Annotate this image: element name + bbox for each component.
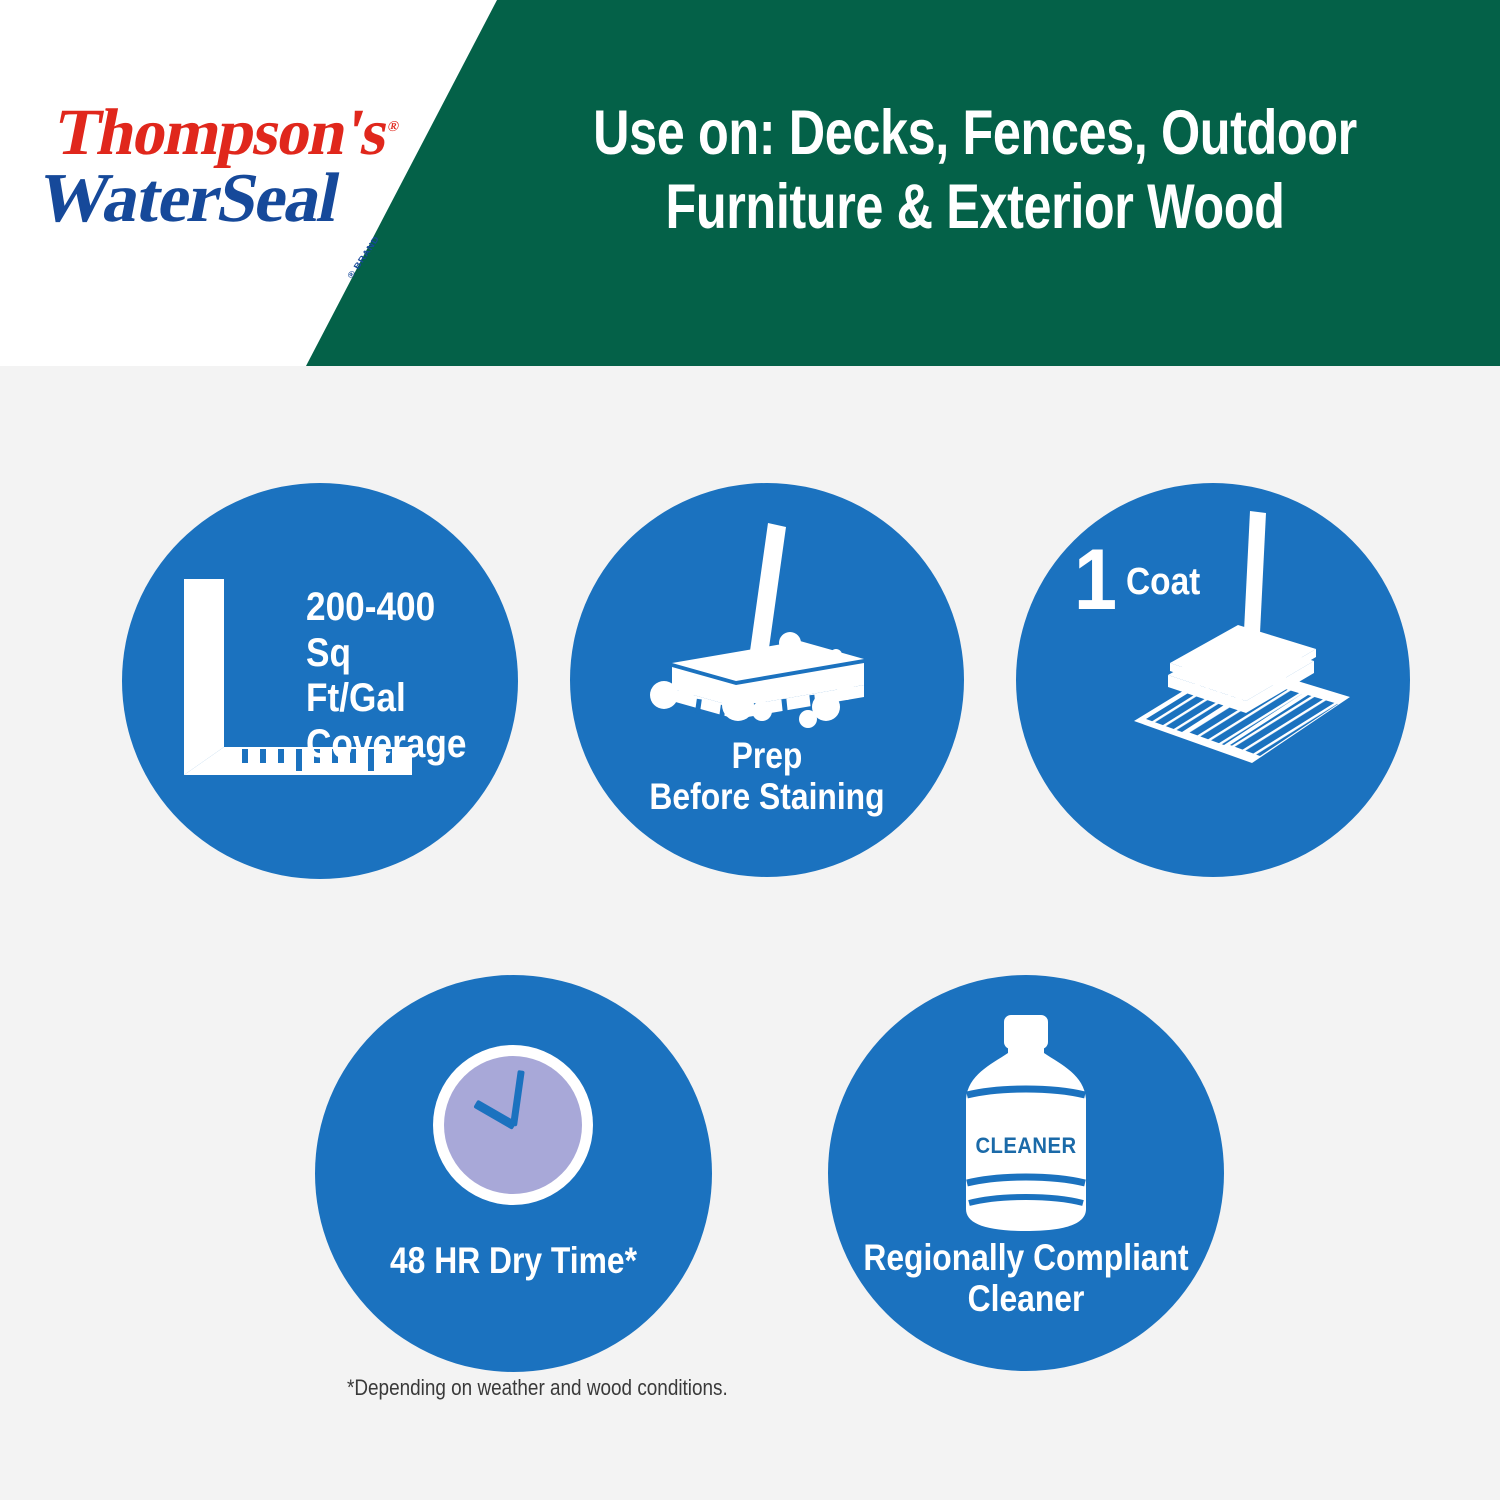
infographic-page: Thompson's® WaterSeal ® BRAND Use on: De… xyxy=(0,0,1500,1500)
coat-number: 1 xyxy=(1074,543,1117,619)
feature-circle-dry-time: 48 HR Dry Time* xyxy=(315,975,712,1372)
feature-circle-coverage: 200-400 Sq Ft/Gal Coverage xyxy=(122,483,518,879)
feature-circle-prep: Prep Before Staining xyxy=(570,483,964,877)
header-banner: Thompson's® WaterSeal ® BRAND Use on: De… xyxy=(0,0,1500,366)
bottle-shape xyxy=(950,1013,1102,1233)
coverage-content: 200-400 Sq Ft/Gal Coverage xyxy=(180,579,466,787)
logo-registered-icon: ® xyxy=(386,119,400,135)
brand-logo: Thompson's® WaterSeal ® BRAND xyxy=(31,100,404,245)
feature-circle-coat: 1 Coat xyxy=(1016,483,1410,877)
logo-waterseal-text: WaterSeal xyxy=(33,164,392,234)
logo-thompsons-text: Thompson's® xyxy=(50,100,404,166)
dry-time-label: 48 HR Dry Time* xyxy=(343,1240,684,1281)
cleaner-bottle-icon: CLEANER xyxy=(950,1013,1102,1233)
clock-icon xyxy=(433,1045,593,1205)
cleaner-label: Regionally Compliant Cleaner xyxy=(856,1237,1197,1320)
coat-count-text: 1 Coat xyxy=(1074,543,1210,619)
prep-label: Prep Before Staining xyxy=(598,735,937,818)
footnote-text: *Depending on weather and wood condition… xyxy=(347,1375,728,1401)
feature-circle-cleaner: CLEANER Regionally Compliant Cleaner xyxy=(828,975,1224,1371)
page-title: Use on: Decks, Fences, Outdoor Furniture… xyxy=(579,96,1371,245)
coat-word: Coat xyxy=(1126,563,1200,601)
bottle-label-text: CLEANER xyxy=(956,1133,1096,1159)
scrub-brush-icon xyxy=(650,521,886,731)
coverage-text: 200-400 Sq Ft/Gal Coverage xyxy=(306,585,456,767)
